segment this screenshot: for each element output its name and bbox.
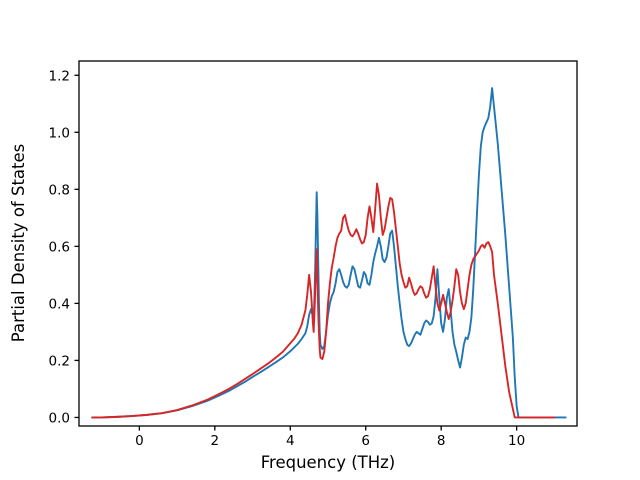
y-tick-label: 1.2 <box>49 68 70 84</box>
y-tick-label: 0.0 <box>49 410 70 426</box>
x-axis-title: Frequency (THz) <box>261 453 396 472</box>
y-tick-label: 0.6 <box>49 239 70 255</box>
x-tick-label: 0 <box>135 433 144 449</box>
x-tick-label: 6 <box>361 433 370 449</box>
y-tick-label: 0.2 <box>49 353 70 369</box>
y-tick-label: 0.4 <box>49 296 70 312</box>
y-tick-label: 0.8 <box>49 182 70 198</box>
axes-background <box>79 61 577 426</box>
x-tick-label: 8 <box>437 433 446 449</box>
x-tick-label: 10 <box>508 433 525 449</box>
y-tick-label: 1.0 <box>49 125 70 141</box>
y-axis-title: Partial Density of States <box>9 144 28 343</box>
x-tick-label: 4 <box>286 433 295 449</box>
plot-area: 0246810 0.00.20.40.60.81.01.2 Frequency … <box>0 0 640 480</box>
figure-canvas: 0246810 0.00.20.40.60.81.01.2 Frequency … <box>0 0 640 480</box>
x-tick-label: 2 <box>211 433 220 449</box>
